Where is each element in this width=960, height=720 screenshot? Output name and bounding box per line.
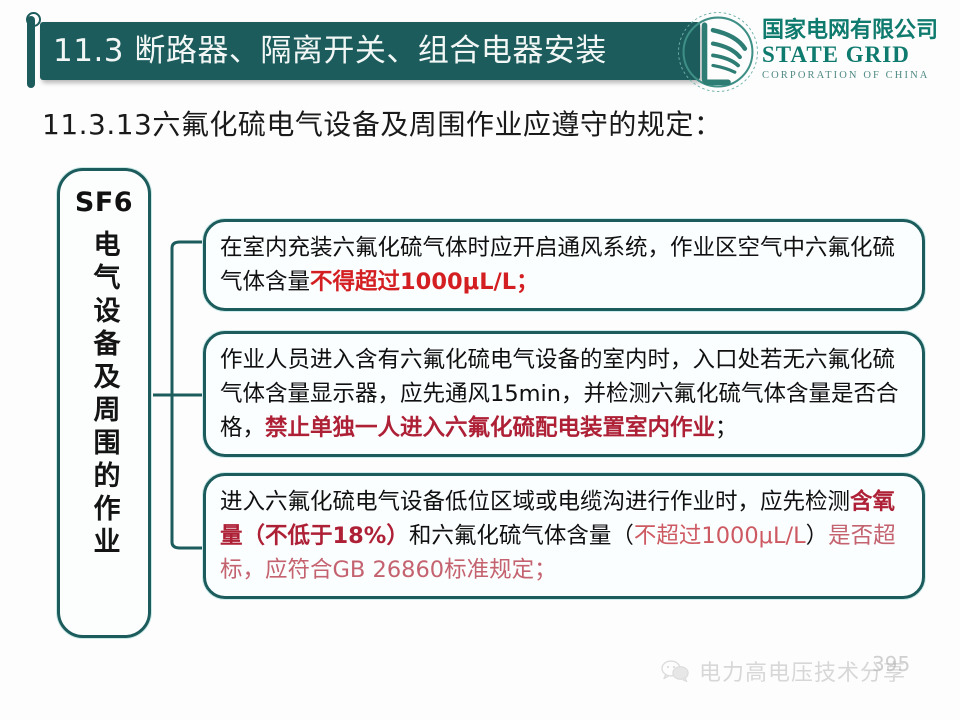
bracket-connector bbox=[150, 230, 210, 560]
note-text-3: 进入六氟化硫电气设备低位区域或电缆沟进行作业时，应先检测含氧量（不低于18%）和… bbox=[220, 485, 908, 587]
note-2-seg-1: 禁止单独一人进入六氟化硫配电装置室内作业 bbox=[265, 415, 715, 441]
note-3-seg-2: 和六氟化硫气体含量（ bbox=[409, 523, 634, 549]
note-text-2: 作业人员进入含有六氟化硫电气设备的室内时，入口处若无六氟化硫气体含量显示器，应先… bbox=[220, 343, 908, 445]
note-1-seg-2: ； bbox=[516, 269, 539, 295]
sf6-category-box: SF6 电气设备及周围的作业 bbox=[57, 168, 151, 638]
note-2-seg-2: ； bbox=[715, 415, 738, 441]
logo-company-en-sub: CORPORATION OF CHINA bbox=[762, 69, 960, 83]
note-3-seg-4: ） bbox=[806, 523, 829, 549]
note-box-3: 进入六氟化硫电气设备低位区域或电缆沟进行作业时，应先检测含氧量（不低于18%）和… bbox=[203, 473, 925, 599]
state-grid-logo-text: 国家电网有限公司 STATE GRID CORPORATION OF CHINA bbox=[762, 19, 960, 82]
logo-company-en: STATE GRID bbox=[762, 42, 960, 68]
note-3-seg-3: 不超过1000μL/L bbox=[634, 523, 806, 549]
header-pin-pole-icon bbox=[27, 16, 35, 88]
section-subtitle: 11.3.13六氟化硫电气设备及周围作业应遵守的规定： bbox=[42, 103, 722, 143]
page-title: 11.3 断路器、隔离开关、组合电器安装 bbox=[53, 36, 607, 67]
state-grid-logo: 国家电网有限公司 STATE GRID CORPORATION OF CHINA bbox=[676, 5, 960, 100]
logo-company-cn: 国家电网有限公司 bbox=[762, 19, 960, 42]
note-text-1: 在室内充装六氟化硫气体时应开启通风系统，作业区空气中六氟化硫气体含量不得超过10… bbox=[220, 231, 908, 299]
slide-canvas: 11.3 断路器、隔离开关、组合电器安装 国家电网有限公司 STATE GRID… bbox=[0, 0, 960, 720]
note-box-1: 在室内充装六氟化硫气体时应开启通风系统，作业区空气中六氟化硫气体含量不得超过10… bbox=[203, 219, 925, 311]
footer-watermark: 电力高电压技术分享 bbox=[660, 655, 906, 687]
sf6-vertical-label: 电气设备及周围的作业 bbox=[91, 230, 118, 560]
state-grid-emblem-icon bbox=[676, 10, 760, 94]
note-1-seg-1: 不得超过1000μL/L bbox=[310, 269, 516, 295]
note-box-2: 作业人员进入含有六氟化硫电气设备的室内时，入口处若无六氟化硫气体含量显示器，应先… bbox=[203, 331, 925, 457]
wechat-icon bbox=[660, 659, 690, 683]
note-3-seg-0: 进入六氟化硫电气设备低位区域或电缆沟进行作业时，应先检测 bbox=[220, 489, 850, 515]
sf6-label: SF6 bbox=[75, 187, 133, 218]
watermark-text: 电力高电压技术分享 bbox=[699, 655, 906, 687]
header-title-bar: 11.3 断路器、隔离开关、组合电器安装 bbox=[40, 22, 700, 80]
